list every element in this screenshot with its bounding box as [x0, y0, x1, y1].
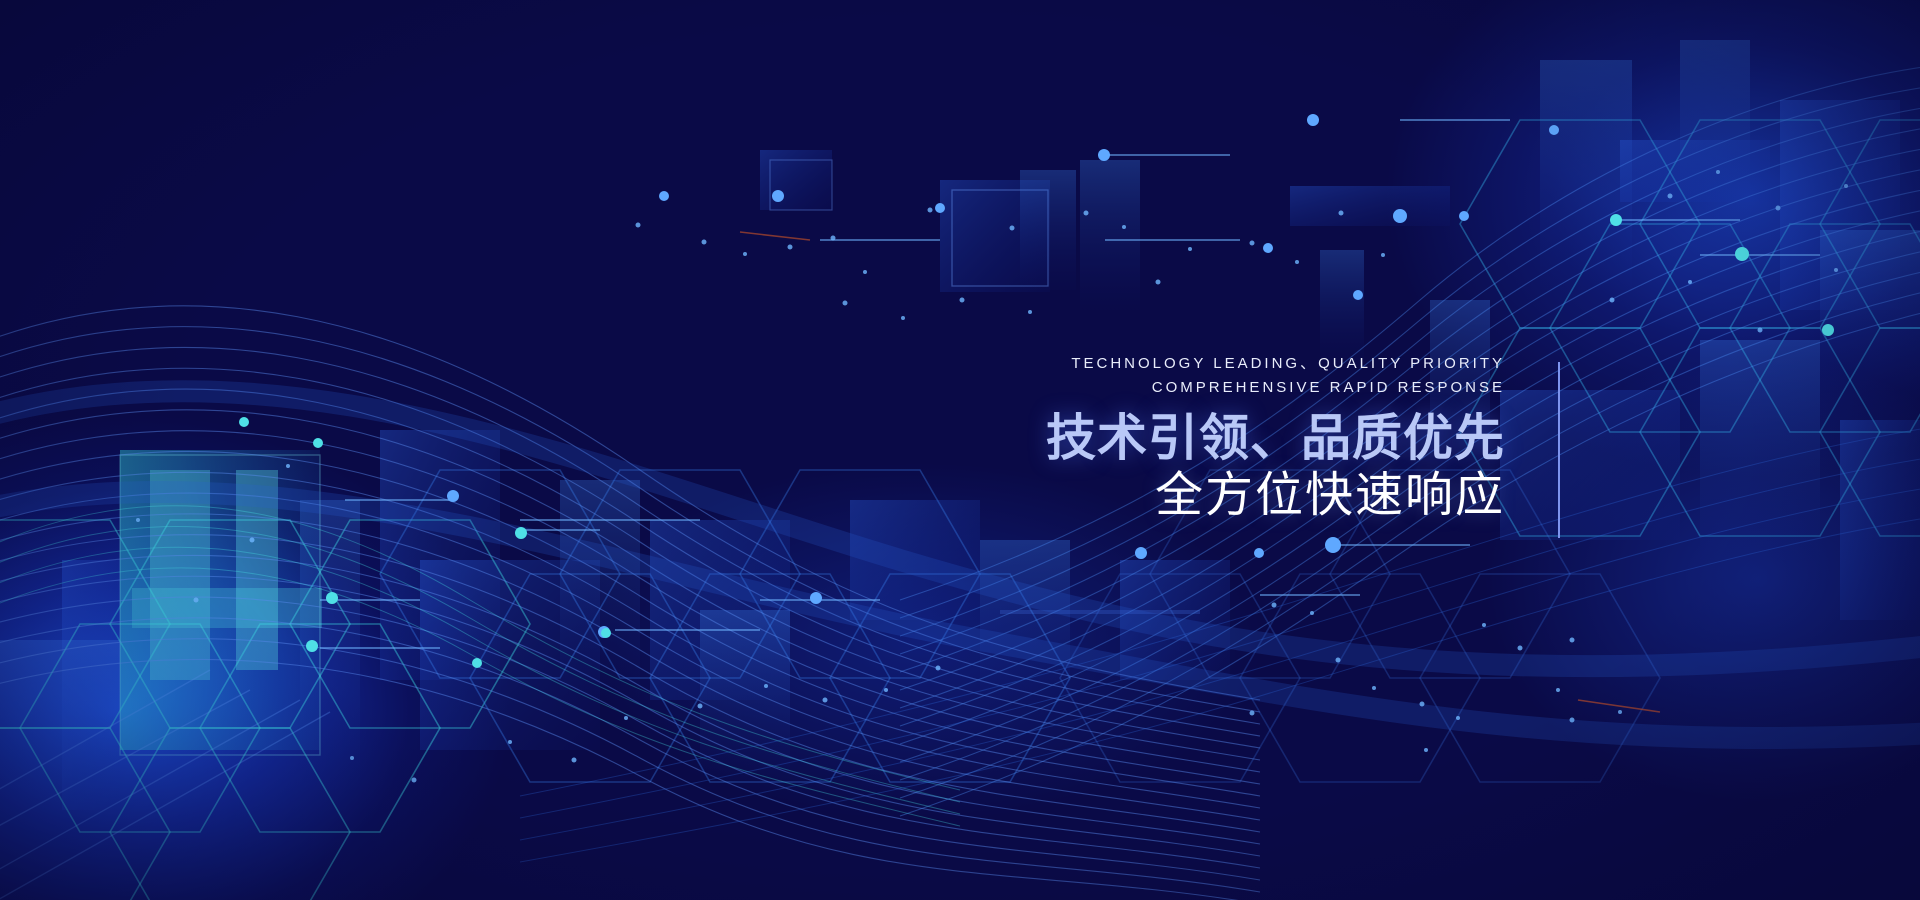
page-title: 技术引领、品质优先 — [640, 410, 1505, 466]
page-subtitle: 全方位快速响应 — [640, 468, 1505, 524]
tech-banner: TECHNOLOGY LEADING、QUALITY PRIORITY COMP… — [0, 0, 1920, 900]
vertical-accent-rule — [1558, 362, 1560, 538]
headline-block: TECHNOLOGY LEADING、QUALITY PRIORITY COMP… — [640, 352, 1505, 524]
glow-bottom-left — [0, 330, 740, 900]
eyebrow-line-1: TECHNOLOGY LEADING、QUALITY PRIORITY — [640, 352, 1505, 376]
eyebrow-line-2: COMPREHENSIVE RAPID RESPONSE — [640, 376, 1505, 400]
